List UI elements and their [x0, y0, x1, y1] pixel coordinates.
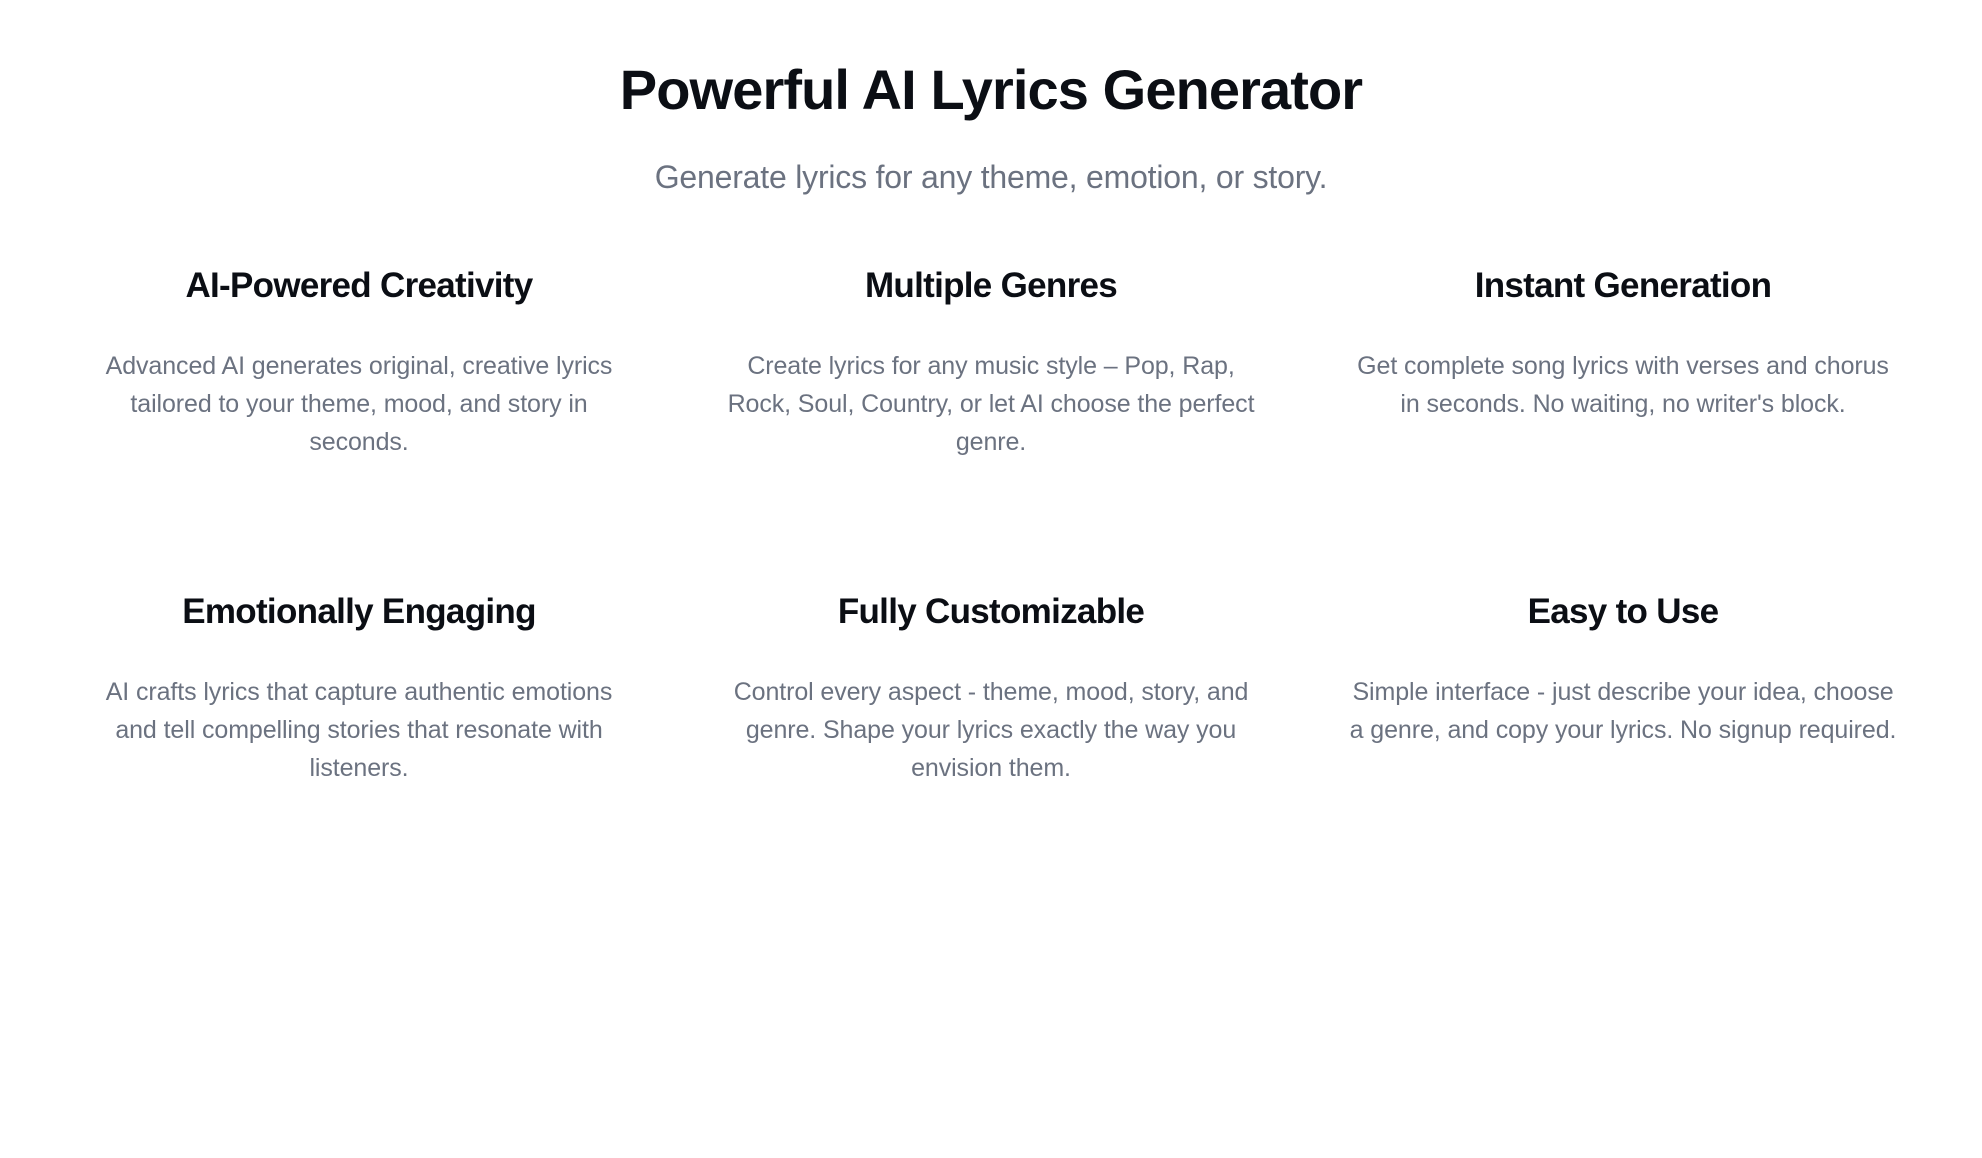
- feature-description: Create lyrics for any music style – Pop,…: [714, 307, 1268, 461]
- feature-description: Advanced AI generates original, creative…: [82, 307, 636, 461]
- feature-description: Control every aspect - theme, mood, stor…: [714, 633, 1268, 787]
- page-subtitle: Generate lyrics for any theme, emotion, …: [76, 122, 1906, 199]
- feature-title: Fully Customizable: [714, 591, 1268, 633]
- feature-description: AI crafts lyrics that capture authentic …: [82, 633, 636, 787]
- feature-title: Instant Generation: [1346, 265, 1900, 307]
- page-header: Powerful AI Lyrics Generator Generate ly…: [76, 0, 1906, 199]
- features-grid: AI-Powered Creativity Advanced AI genera…: [76, 199, 1906, 851]
- feature-card-instant-generation: Instant Generation Get complete song lyr…: [1340, 265, 1906, 525]
- feature-card-ai-powered-creativity: AI-Powered Creativity Advanced AI genera…: [76, 265, 642, 525]
- feature-card-multiple-genres: Multiple Genres Create lyrics for any mu…: [708, 265, 1274, 525]
- feature-title: Easy to Use: [1346, 591, 1900, 633]
- feature-title: AI-Powered Creativity: [82, 265, 636, 307]
- page-title: Powerful AI Lyrics Generator: [76, 58, 1906, 122]
- feature-card-emotionally-engaging: Emotionally Engaging AI crafts lyrics th…: [76, 525, 642, 851]
- feature-card-easy-to-use: Easy to Use Simple interface - just desc…: [1340, 525, 1906, 851]
- feature-card-fully-customizable: Fully Customizable Control every aspect …: [708, 525, 1274, 851]
- feature-description: Simple interface - just describe your id…: [1346, 633, 1900, 749]
- feature-title: Emotionally Engaging: [82, 591, 636, 633]
- feature-section-page: Powerful AI Lyrics Generator Generate ly…: [0, 0, 1982, 1158]
- feature-description: Get complete song lyrics with verses and…: [1346, 307, 1900, 423]
- feature-title: Multiple Genres: [714, 265, 1268, 307]
